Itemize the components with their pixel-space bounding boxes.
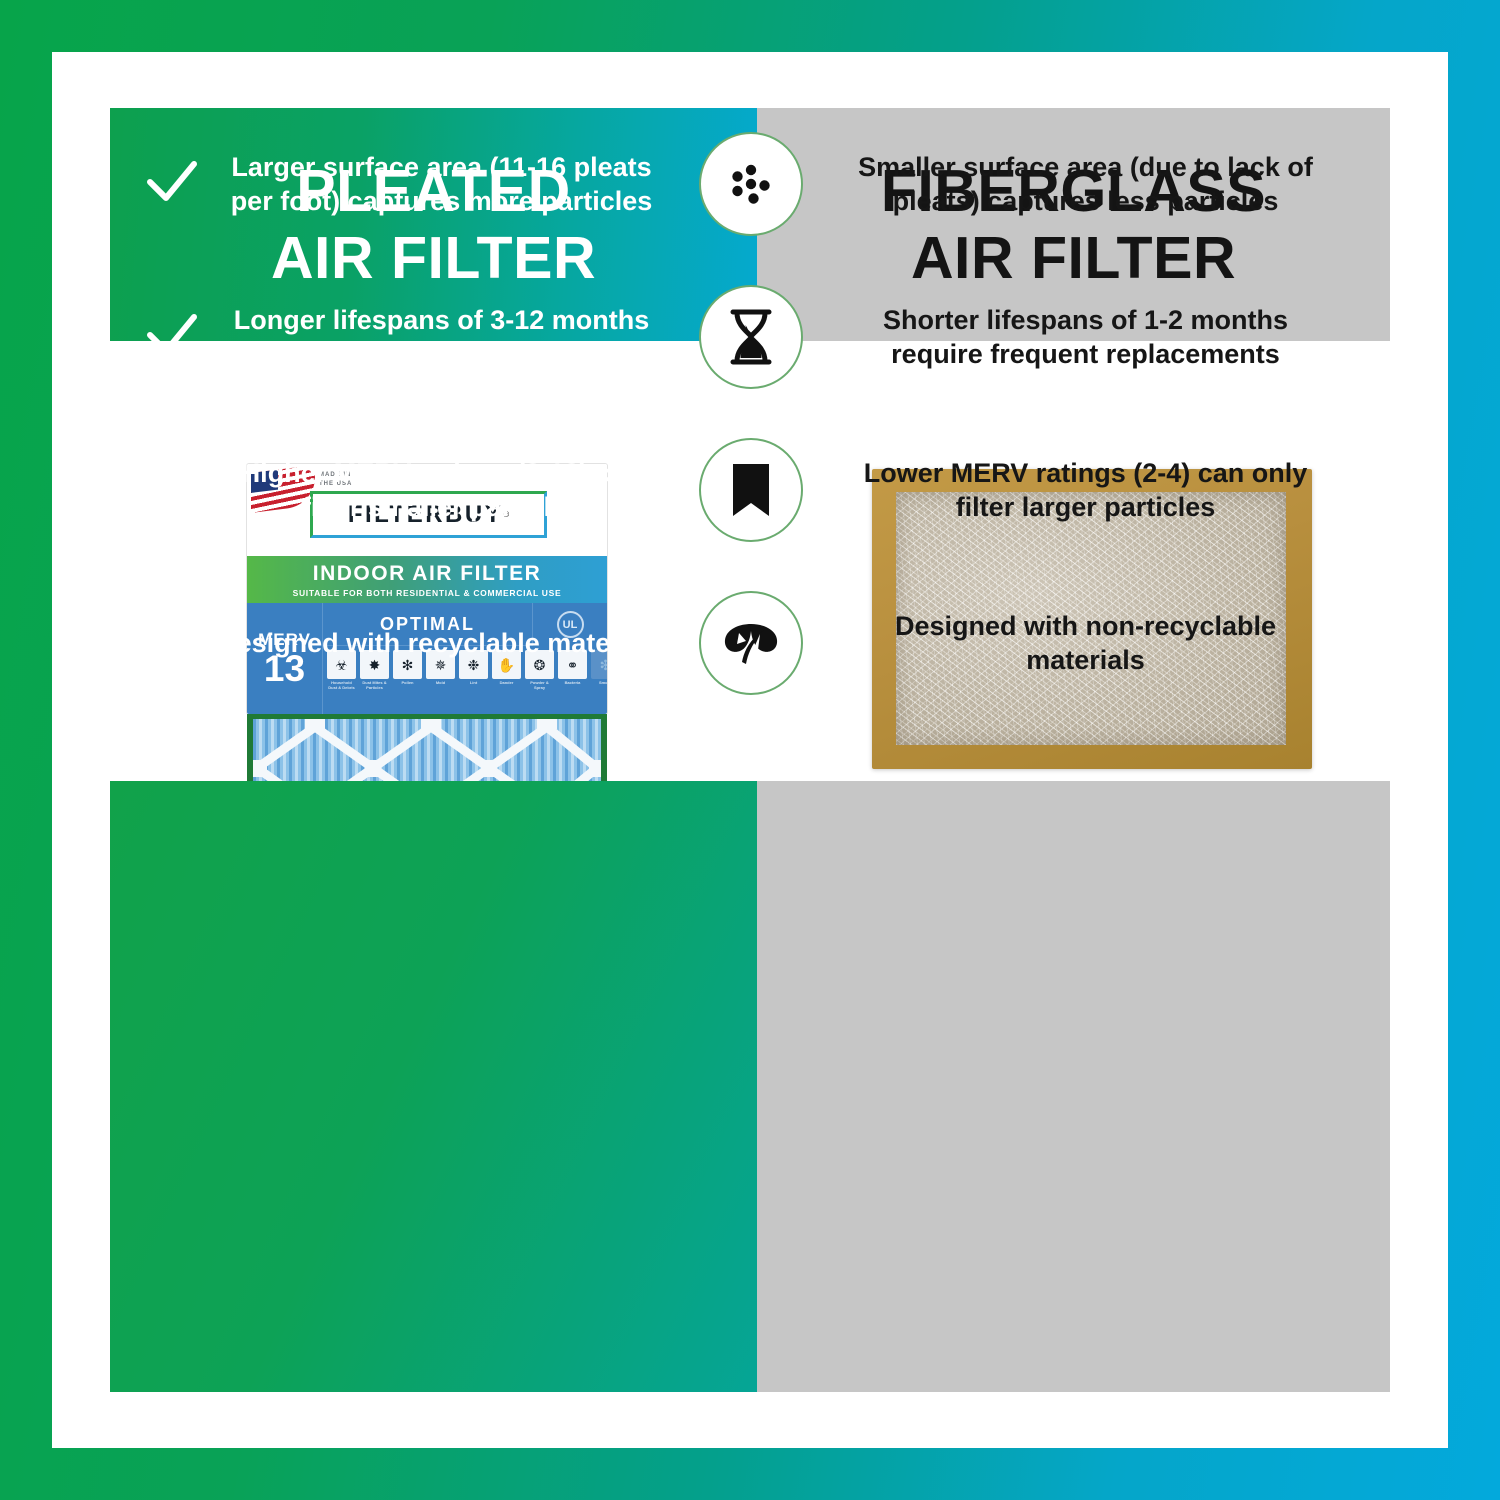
hourglass-icon-badge	[699, 285, 803, 389]
particles-icon-badge	[699, 132, 803, 236]
comparison-row: Designed with recyclable materials Desig…	[110, 566, 1390, 719]
comparison-text-pleated: Designed with recyclable materials	[214, 626, 669, 660]
comparison-left-column	[110, 781, 757, 1392]
bookmark-icon	[727, 461, 775, 519]
comparison-rows: Larger surface area (11-16 pleats per fo…	[110, 108, 1390, 719]
leaves-icon	[720, 615, 782, 671]
comparison-background	[110, 781, 1390, 1392]
infographic-canvas: PLEATED AIR FILTER FIBERGLASS AIR FILTER…	[110, 108, 1390, 1392]
comparison-text-fiberglass: Shorter lifespans of 1-2 months require …	[841, 303, 1330, 371]
comparison-cell-pleated: Longer lifespans of 3-12 months result i…	[110, 261, 757, 414]
comparison-cell-fiberglass: Smaller surface area (due to lack of ple…	[757, 108, 1390, 261]
checkmark-icon	[144, 615, 200, 671]
comparison-cell-fiberglass: Designed with non-recyclable materials	[757, 566, 1390, 719]
comparison-text-pleated: Larger surface area (11-16 pleats per fo…	[214, 150, 669, 218]
comparison-text-fiberglass: Smaller surface area (due to lack of ple…	[841, 150, 1330, 218]
comparison-cell-pleated: Higher MERV ratings (8-13) can filter sm…	[110, 414, 757, 567]
comparison-cell-fiberglass: Lower MERV ratings (2-4) can only filter…	[757, 414, 1390, 567]
comparison-cell-pleated: Larger surface area (11-16 pleats per fo…	[110, 108, 757, 261]
comparison-cell-pleated: Designed with recyclable materials	[110, 566, 757, 719]
comparison-text-fiberglass: Designed with non-recyclable materials	[841, 609, 1330, 677]
leaves-icon-badge	[699, 591, 803, 695]
comparison-text-pleated: Higher MERV ratings (8-13) can filter sm…	[214, 456, 669, 524]
comparison-text-fiberglass: Lower MERV ratings (2-4) can only filter…	[841, 456, 1330, 524]
comparison-cell-fiberglass: Shorter lifespans of 1-2 months require …	[757, 261, 1390, 414]
checkmark-icon	[144, 156, 200, 212]
checkmark-icon	[144, 462, 200, 518]
comparison-row: Higher MERV ratings (8-13) can filter sm…	[110, 414, 1390, 567]
comparison-text-pleated: Longer lifespans of 3-12 months result i…	[214, 303, 669, 371]
comparison-row: Longer lifespans of 3-12 months result i…	[110, 261, 1390, 414]
bookmark-icon-badge	[699, 438, 803, 542]
comparison-row: Larger surface area (11-16 pleats per fo…	[110, 108, 1390, 261]
comparison-right-column	[757, 781, 1390, 1392]
hourglass-icon	[723, 307, 779, 367]
checkmark-icon	[144, 309, 200, 365]
particles-icon	[722, 155, 780, 213]
